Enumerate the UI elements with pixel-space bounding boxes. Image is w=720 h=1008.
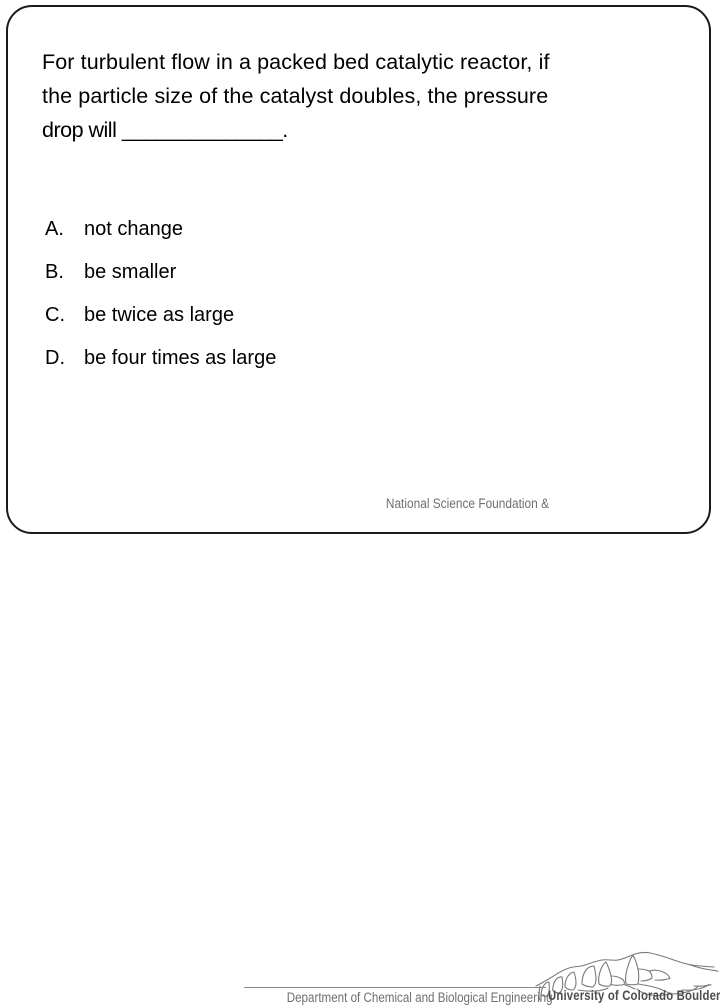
funding-credit-line-2: Department of Chemical and Biological En… — [287, 990, 549, 1006]
answer-option-a-label: not change — [84, 216, 183, 242]
funding-credit-line-1: National Science Foundation & — [281, 496, 549, 512]
question-line-3: drop will ______________. — [42, 113, 662, 147]
answer-option-d-label: be four times as large — [84, 345, 276, 371]
answer-option-d[interactable]: D. be four times as large — [45, 345, 605, 388]
footer-divider-rule — [244, 987, 546, 988]
answer-option-d-letter: D. — [45, 345, 84, 371]
answer-options-list: A. not change B. be smaller C. be twice … — [45, 216, 605, 388]
answer-option-b[interactable]: B. be smaller — [45, 259, 605, 302]
answer-option-b-letter: B. — [45, 259, 84, 285]
funding-credit: National Science Foundation & — [244, 496, 549, 512]
answer-option-c-letter: C. — [45, 302, 84, 328]
answer-option-a[interactable]: A. not change — [45, 216, 605, 259]
question-line-1: For turbulent flow in a packed bed catal… — [42, 45, 662, 79]
slide-canvas: For turbulent flow in a packed bed catal… — [0, 0, 720, 540]
slide-footer: National Science Foundation & Department… — [0, 474, 720, 536]
answer-option-c-label: be twice as large — [84, 302, 234, 328]
answer-option-c[interactable]: C. be twice as large — [45, 302, 605, 345]
answer-option-a-letter: A. — [45, 216, 84, 242]
answer-option-b-label: be smaller — [84, 259, 176, 285]
question-text: For turbulent flow in a packed bed catal… — [42, 45, 662, 147]
question-line-2: the particle size of the catalyst double… — [42, 79, 662, 113]
cu-boulder-wordmark: University of Colorado Boulder — [548, 988, 720, 1004]
